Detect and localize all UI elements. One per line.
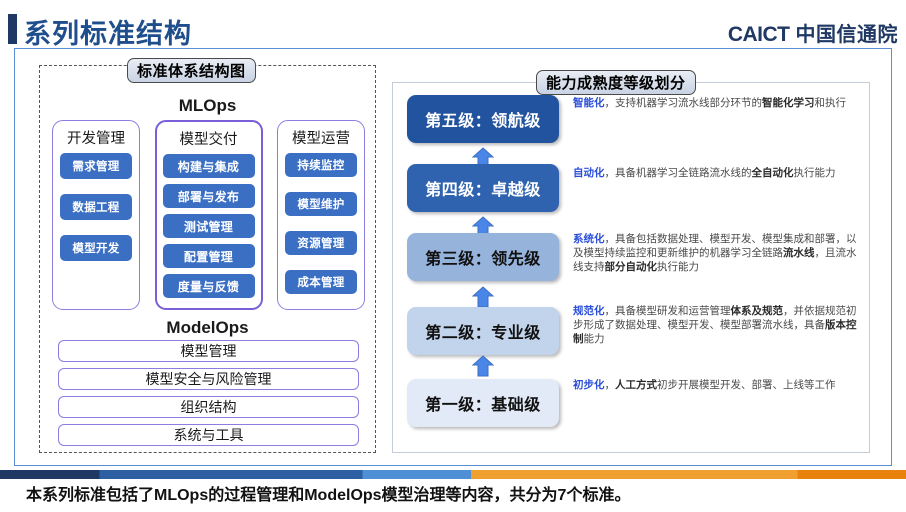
level-box-3[interactable]: 第三级：领先级 [407, 233, 559, 281]
desc-emphasis-2: 部分自动化 [605, 261, 658, 273]
desc-part: 能力 [584, 333, 605, 345]
slide-header: 系列标准结构 CAICT 中国信通院 [0, 0, 906, 48]
desc-part: 执行能力 [794, 167, 836, 179]
desc-emphasis: 人工方式 [615, 379, 657, 391]
level-box-5[interactable]: 第五级：领航级 [407, 95, 559, 143]
desc-part: ，具备机器学习全链路流水线的 [605, 167, 752, 179]
up-arrow-icon [471, 286, 495, 308]
chip-measurement-and-feedback[interactable]: 度量与反馈 [163, 274, 255, 298]
level-keyword-5: 智能化 [573, 97, 605, 109]
chip-model-development[interactable]: 模型开发 [60, 235, 132, 261]
level-description-4: 自动化，具备机器学习全链路流水线的全自动化执行能力 [573, 167, 859, 181]
mlops-heading: MLOps [40, 96, 375, 116]
page-title: 系列标准结构 [24, 12, 192, 51]
mlops-columns: 开发管理 需求管理 数据工程 模型开发 模型交付 构建与集成 部署与发布 测试管… [52, 120, 365, 310]
column-title: 开发管理 [67, 127, 125, 148]
title-accent-bar [8, 14, 17, 44]
chip-configuration-management[interactable]: 配置管理 [163, 244, 255, 268]
maturity-levels-panel: 第五级：领航级 智能化，支持机器学习流水线部分环节的智能化学习和执行 第四级：卓… [392, 82, 870, 453]
chip-model-maintenance[interactable]: 模型维护 [285, 192, 357, 216]
level-box-2[interactable]: 第二级：专业级 [407, 307, 559, 355]
chip-build-and-integration[interactable]: 构建与集成 [163, 154, 255, 178]
column-development-management[interactable]: 开发管理 需求管理 数据工程 模型开发 [52, 120, 140, 310]
up-arrow-icon [471, 355, 495, 377]
level-keyword-4: 自动化 [573, 167, 605, 179]
desc-part: ，支持机器学习流水线部分环节的 [605, 97, 763, 109]
desc-part: ，具备模型研发和运营管理 [605, 305, 731, 317]
chip-test-management[interactable]: 测试管理 [163, 214, 255, 238]
logo-abbreviation: CAICT [728, 23, 790, 50]
level-box-1[interactable]: 第一级：基础级 [407, 379, 559, 427]
chip-deploy-and-release[interactable]: 部署与发布 [163, 184, 255, 208]
desc-emphasis: 全自动化 [752, 167, 794, 179]
desc-emphasis: 智能化学习 [762, 97, 815, 109]
desc-part: ， [605, 379, 616, 391]
chip-requirement-management[interactable]: 需求管理 [60, 153, 132, 179]
desc-part: 和执行 [815, 97, 847, 109]
footer-accent-bar [0, 470, 906, 479]
desc-emphasis: 流水线 [783, 247, 815, 259]
content-frame: MLOps 开发管理 需求管理 数据工程 模型开发 模型交付 构建与集成 部署与… [14, 48, 892, 466]
level-keyword-1: 初步化 [573, 379, 605, 391]
column-model-operations[interactable]: 模型运营 持续监控 模型维护 资源管理 成本管理 [277, 120, 365, 310]
modelops-row-organization[interactable]: 组织结构 [58, 396, 359, 418]
modelops-row-security-risk[interactable]: 模型安全与风险管理 [58, 368, 359, 390]
level-description-1: 初步化，人工方式初步开展模型开发、部署、上线等工作 [573, 379, 859, 393]
column-title: 模型交付 [180, 128, 238, 149]
right-panel-caption: 能力成熟度等级划分 [536, 70, 696, 95]
level-description-5: 智能化，支持机器学习流水线部分环节的智能化学习和执行 [573, 97, 859, 111]
column-model-delivery[interactable]: 模型交付 构建与集成 部署与发布 测试管理 配置管理 度量与反馈 [155, 120, 263, 310]
maturity-level-list: 第五级：领航级 智能化，支持机器学习流水线部分环节的智能化学习和执行 第四级：卓… [393, 83, 871, 454]
modelops-row-model-management[interactable]: 模型管理 [58, 340, 359, 362]
chip-resource-management[interactable]: 资源管理 [285, 231, 357, 255]
modelops-heading: ModelOps [40, 318, 375, 338]
level-box-4[interactable]: 第四级：卓越级 [407, 164, 559, 212]
chip-cost-management[interactable]: 成本管理 [285, 270, 357, 294]
footer-summary-text: 本系列标准包括了MLOps的过程管理和ModelOps模型治理等内容，共分为7个… [0, 481, 906, 505]
modelops-row-systems-tools[interactable]: 系统与工具 [58, 424, 359, 446]
chip-data-engineering[interactable]: 数据工程 [60, 194, 132, 220]
column-title: 模型运营 [292, 127, 350, 148]
modelops-rows: 模型管理 模型安全与风险管理 组织结构 系统与工具 [58, 340, 359, 446]
level-description-2: 规范化，具备模型研发和运营管理体系及规范，并依据规范初步形成了数据处理、模型开发… [573, 305, 859, 347]
left-panel-caption: 标准体系结构图 [127, 58, 256, 83]
desc-emphasis: 体系及规范 [731, 305, 784, 317]
level-description-3: 系统化，具备包括数据处理、模型开发、模型集成和部署，以及模型持续监控和更新维护的… [573, 233, 859, 275]
caict-logo: CAICT 中国信通院 [728, 18, 898, 50]
chip-continuous-monitoring[interactable]: 持续监控 [285, 153, 357, 177]
slide-root: 系列标准结构 CAICT 中国信通院 MLOps 开发管理 需求管理 数据工程 … [0, 0, 906, 512]
standards-architecture-panel: MLOps 开发管理 需求管理 数据工程 模型开发 模型交付 构建与集成 部署与… [39, 65, 376, 453]
level-keyword-2: 规范化 [573, 305, 605, 317]
desc-part: 执行能力 [657, 261, 699, 273]
desc-part: 初步开展模型开发、部署、上线等工作 [657, 379, 836, 391]
level-keyword-3: 系统化 [573, 233, 605, 245]
logo-chinese-name: 中国信通院 [796, 18, 899, 47]
